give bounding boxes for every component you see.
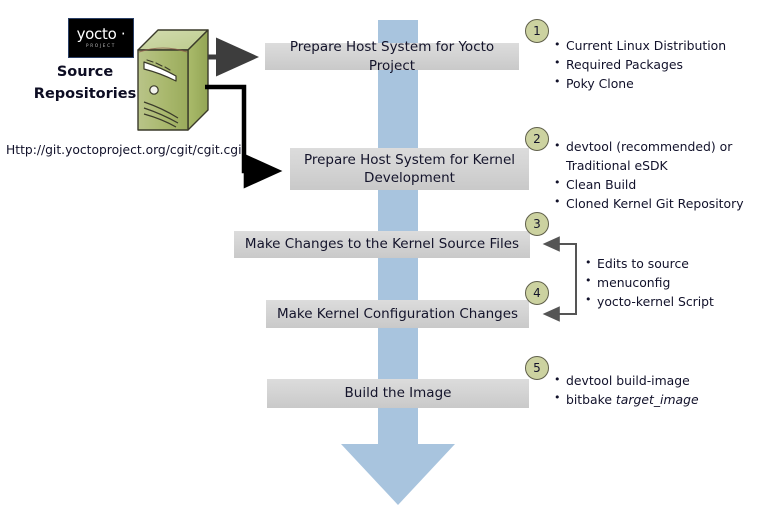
server-icon	[136, 28, 210, 142]
yocto-project-logo: yocto · PROJECT	[68, 18, 134, 58]
annotation-bitbake-prefix: bitbake	[566, 392, 616, 407]
source-repositories-url: Http://git.yoctoproject.org/cgit/cgit.cg…	[6, 143, 242, 157]
process-box-step1-label: Prepare Host System for Yocto Project	[271, 38, 513, 74]
annotation-item: Edits to source	[585, 255, 714, 274]
annotations-step2: devtool (recommended) or Traditional eSD…	[554, 138, 744, 213]
annotation-item-continuation: Traditional eSDK	[554, 157, 744, 176]
process-box-step2-line1: Prepare Host System for Kernel	[304, 152, 515, 168]
source-repositories-label: Source Repositories	[30, 62, 140, 106]
step-number-circle-2: 2	[525, 127, 549, 151]
source-repositories-label-line1: Source	[30, 62, 140, 84]
yocto-logo-wordmark: yocto ·	[77, 27, 126, 42]
annotation-item: Current Linux Distribution	[554, 37, 726, 56]
annotations-step5: devtool build-image bitbake target_image	[554, 372, 699, 410]
annotation-item: Required Packages	[554, 56, 726, 75]
annotations-step1: Current Linux Distribution Required Pack…	[554, 37, 726, 94]
annotation-item: devtool (recommended) or	[554, 138, 744, 157]
step-number-circle-1: 1	[525, 19, 549, 43]
connector-feedback-bracket	[547, 244, 576, 314]
annotation-item: menuconfig	[585, 274, 714, 293]
step-number-circle-3: 3	[525, 212, 549, 236]
annotation-bitbake-target: target_image	[616, 392, 699, 407]
step-number-circle-5: 5	[525, 356, 549, 380]
process-box-step2[interactable]: Prepare Host System for Kernel Developme…	[290, 148, 529, 190]
annotations-step3-step4: Edits to source menuconfig yocto-kernel …	[585, 255, 714, 312]
process-box-step5-label: Build the Image	[345, 384, 452, 402]
process-box-step3-label: Make Changes to the Kernel Source Files	[245, 235, 519, 253]
annotation-item: yocto-kernel Script	[585, 293, 714, 312]
process-box-step2-label: Prepare Host System for Kernel Developme…	[304, 151, 515, 187]
process-box-step5[interactable]: Build the Image	[267, 379, 529, 408]
step-number-circle-4: 4	[525, 281, 549, 305]
annotation-item: Poky Clone	[554, 75, 726, 94]
main-flow-arrow-head	[341, 444, 455, 505]
yocto-logo-subtext: PROJECT	[86, 44, 116, 48]
annotation-item-bitbake: bitbake target_image	[554, 391, 699, 410]
process-box-step1[interactable]: Prepare Host System for Yocto Project	[265, 43, 519, 70]
process-box-step2-line2: Development	[364, 170, 455, 186]
process-box-step4[interactable]: Make Kernel Configuration Changes	[266, 300, 529, 328]
annotation-item: Cloned Kernel Git Repository	[554, 195, 744, 214]
process-box-step4-label: Make Kernel Configuration Changes	[277, 305, 518, 323]
annotation-item: Clean Build	[554, 176, 744, 195]
source-repositories-label-line2: Repositories	[30, 84, 140, 106]
annotation-item: devtool build-image	[554, 372, 699, 391]
connector-server-to-step2	[205, 87, 277, 171]
process-box-step3[interactable]: Make Changes to the Kernel Source Files	[234, 231, 530, 258]
